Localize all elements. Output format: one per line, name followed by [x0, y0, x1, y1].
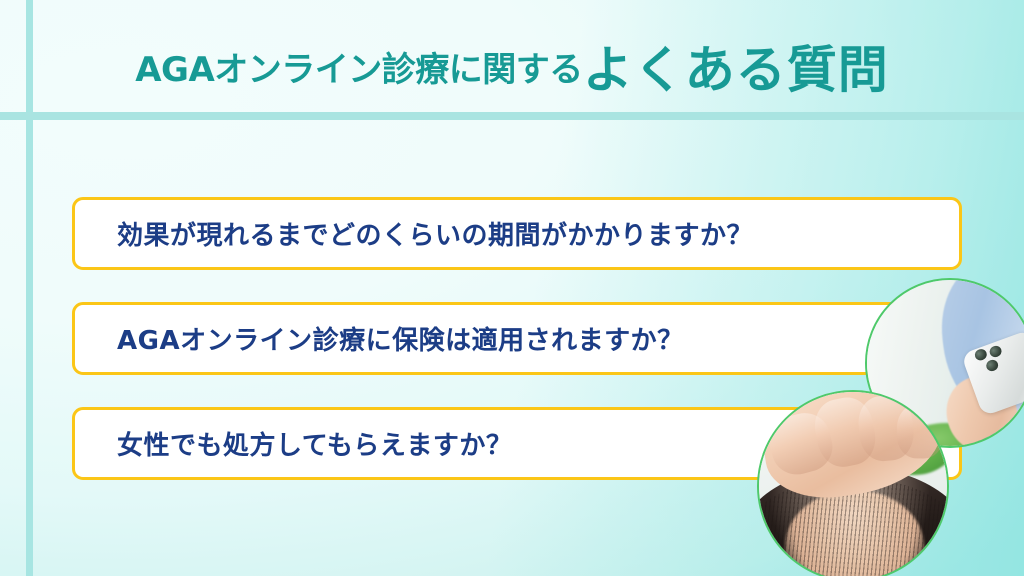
decorative-horizontal-rule — [0, 112, 1024, 120]
faq-item-2[interactable]: AGAオンライン診療に保険は適用されますか？ — [72, 302, 962, 375]
finger — [896, 404, 944, 459]
page-title-emphasis: よくある質問 — [583, 45, 889, 95]
page-title-prefix: AGAオンライン診療に関する — [135, 53, 583, 87]
faq-question-text: AGAオンライン診療に保険は適用されますか？ — [117, 320, 684, 357]
faq-item-1[interactable]: 効果が現れるまでどのくらいの期間がかかりますか？ — [72, 197, 962, 270]
faq-question-text: 効果が現れるまでどのくらいの期間がかかりますか？ — [117, 215, 753, 252]
photo-hand-on-thinning-hairline — [757, 390, 949, 576]
camera-lens — [987, 344, 1002, 359]
faq-question-text: 女性でも処方してもらえますか？ — [117, 425, 512, 462]
page-title: AGAオンライン診療に関する よくある質問 — [0, 34, 1024, 106]
